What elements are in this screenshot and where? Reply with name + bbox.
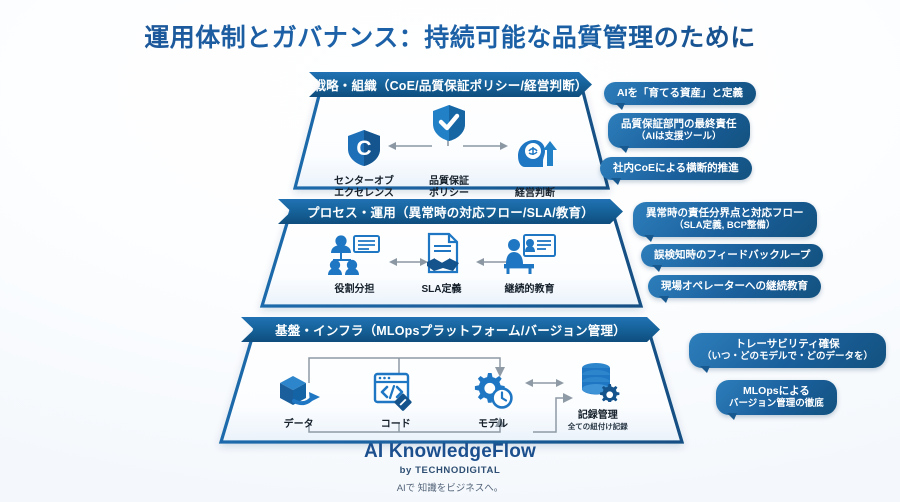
callout-process-3-line1: 現場オペレーターへの継続教育 xyxy=(661,280,808,292)
tier-item-management-decision[interactable]: 経営判断 xyxy=(500,136,570,200)
callout-strategy-3-line1: 社内CoEによる横断的推進 xyxy=(613,162,739,174)
tier-item-record-management-sub: 全ての紐付け記録 xyxy=(568,423,628,431)
tier-item-code[interactable]: コード xyxy=(369,371,422,431)
callout-strategy-2[interactable]: 品質保証部門の最終責任 （AIは支援ツール） xyxy=(608,113,750,148)
brand-name: AI KnowledgeFlow xyxy=(0,441,900,463)
callout-process-2-line1: 誤検知時のフィードバックループ xyxy=(654,249,810,261)
cube-arrow-icon xyxy=(276,371,322,416)
tier-banner-infrastructure-label: 基盤・インフラ（MLOpsプラットフォーム/バージョン管理） xyxy=(275,320,626,339)
tier-item-coe[interactable]: C センターオブ エクセレンス xyxy=(330,128,398,200)
tier-item-role-assignment-label: 役割分担 xyxy=(335,284,375,296)
callout-infrastructure-2-line2: バージョン管理の徹底 xyxy=(729,398,824,410)
brain-head-arrow-icon xyxy=(513,136,557,177)
tier-item-code-label: コード xyxy=(381,419,411,431)
tier-item-qa-policy-label-1: 品質保証 xyxy=(429,176,469,188)
gear-clock-icon xyxy=(470,371,516,416)
tier-banner-strategy-label: 戦略・組織（CoE/品質保証ポリシー/経営判断） xyxy=(313,75,587,94)
tier-item-model[interactable]: モデル xyxy=(466,371,519,431)
tier-item-qa-policy[interactable]: 品質保証 ポリシー xyxy=(416,104,482,200)
callout-infrastructure-2-line1: MLOpsによる xyxy=(743,385,810,397)
callout-infrastructure-2[interactable]: MLOpsによる バージョン管理の徹底 xyxy=(716,380,837,415)
tier-banner-process-label: プロセス・運用（異常時の対応フロー/SLA/教育） xyxy=(307,202,594,221)
callout-process-1-line2: （SLA定義, BCP整備） xyxy=(646,220,804,232)
tier-item-continuous-education[interactable]: 継続的教育 xyxy=(497,234,563,296)
tier-banner-infrastructure[interactable]: 基盤・インフラ（MLOpsプラットフォーム/バージョン管理） xyxy=(241,317,660,342)
tier-item-continuous-education-label: 継続的教育 xyxy=(505,284,555,296)
shield-check-icon xyxy=(431,104,467,147)
callout-process-1[interactable]: 異常時の責任分界点と対応フロー （SLA定義, BCP整備） xyxy=(633,202,817,237)
tier-item-data-label: データ xyxy=(284,419,314,431)
tier-item-qa-policy-label-2: ポリシー xyxy=(429,188,469,200)
tier-banner-process[interactable]: プロセス・運用（異常時の対応フロー/SLA/教育） xyxy=(278,199,623,224)
tier-item-record-management-label: 記録管理 xyxy=(578,410,618,422)
tier-item-coe-label-1: センターオブ xyxy=(334,176,394,188)
shield-c-icon: C xyxy=(345,128,383,173)
brand-byline: by TECHNODIGITAL xyxy=(0,465,900,476)
callout-infrastructure-1-line2: （いつ・どのモデルで・どのデータを） xyxy=(702,351,873,363)
callout-process-1-line1: 異常時の責任分界点と対応フロー xyxy=(646,207,804,219)
callout-strategy-2-line2: （AIは支援ツール） xyxy=(621,131,737,143)
tier-item-coe-label-2: エクセレンス xyxy=(334,188,394,200)
code-window-icon xyxy=(373,371,419,416)
tier-item-role-assignment[interactable]: 役割分担 xyxy=(323,234,387,296)
tier-item-record-management[interactable]: 記録管理 全ての紐付け記録 xyxy=(564,362,632,431)
tier-content-process: 役割分担 SLA定義 xyxy=(310,232,575,296)
callout-process-2[interactable]: 誤検知時のフィードバックループ xyxy=(641,244,823,267)
callout-process-3[interactable]: 現場オペレーターへの継続教育 xyxy=(648,275,821,298)
callout-infrastructure-1-line1: トレーサビリティ確保 xyxy=(735,338,839,350)
tier-item-data[interactable]: データ xyxy=(272,371,325,431)
tier-item-sla-definition[interactable]: SLA定義 xyxy=(413,232,471,296)
tier-banner-strategy[interactable]: 戦略・組織（CoE/品質保証ポリシー/経営判断） xyxy=(309,72,592,97)
tier-content-infrastructure: データ xyxy=(272,362,632,431)
svg-text:C: C xyxy=(356,137,371,160)
page-title: 運用体制とガバナンス：持続可能な品質管理のために xyxy=(0,18,900,54)
brand-tagline: AIで 知識をビジネスへ。 xyxy=(0,480,900,494)
tier-item-model-label: モデル xyxy=(478,419,508,431)
org-chart-people-icon xyxy=(328,234,382,281)
tier-item-management-decision-label: 経営判断 xyxy=(515,188,555,200)
callout-strategy-2-line1: 品質保証部門の最終責任 xyxy=(621,118,737,130)
tier-item-sla-definition-label: SLA定義 xyxy=(422,284,462,296)
database-gear-icon xyxy=(576,362,620,407)
callout-infrastructure-1[interactable]: トレーサビリティ確保 （いつ・どのモデルで・どのデータを） xyxy=(689,333,886,368)
callout-strategy-3[interactable]: 社内CoEによる横断的推進 xyxy=(600,157,752,180)
document-handshake-icon xyxy=(421,232,463,281)
footer-branding: AI KnowledgeFlow by TECHNODIGITAL AIで 知識… xyxy=(0,441,900,494)
training-desk-icon xyxy=(504,234,556,281)
callout-strategy-1[interactable]: AIを「育てる資産」と定義 xyxy=(604,82,756,105)
callout-strategy-1-line1: AIを「育てる資産」と定義 xyxy=(617,87,743,99)
tier-content-strategy: C センターオブ エクセレンス 品質保証 ポリシー xyxy=(330,104,570,200)
slide-canvas: 運用体制とガバナンス：持続可能な品質管理のために xyxy=(0,0,900,502)
